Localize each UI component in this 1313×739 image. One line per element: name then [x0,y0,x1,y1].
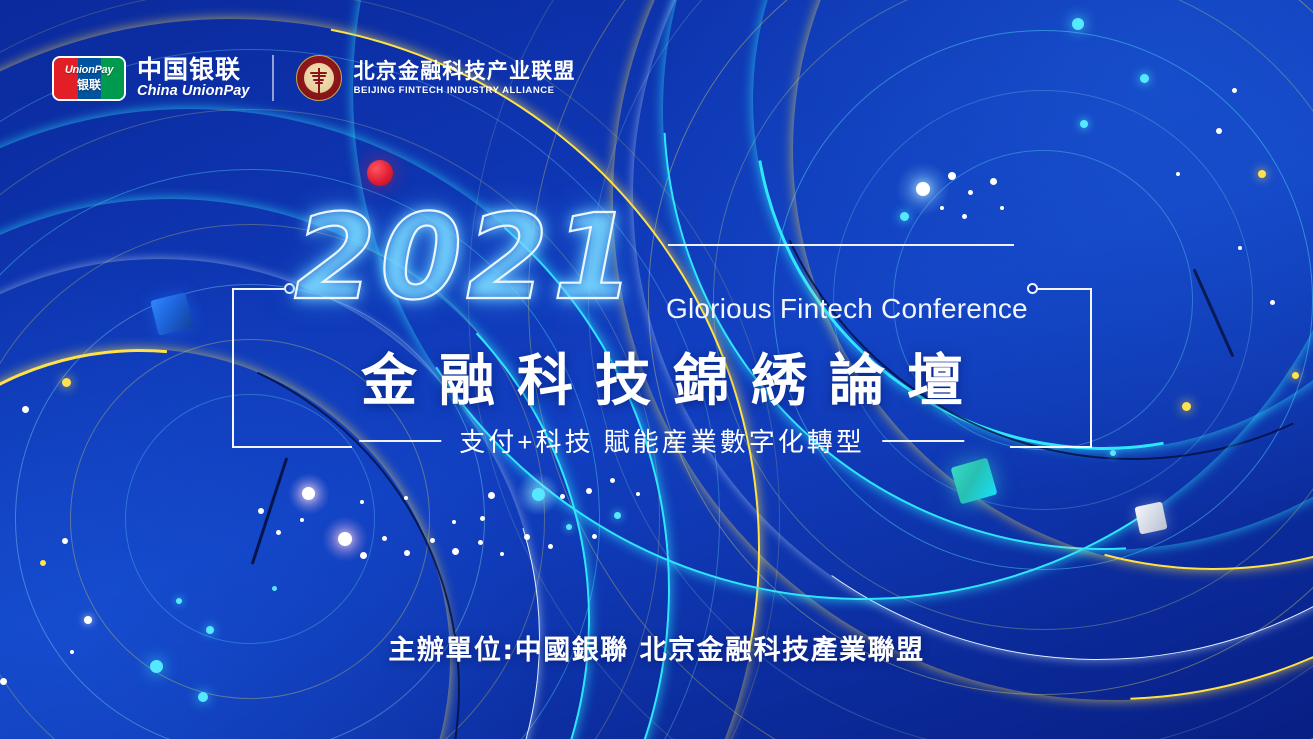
alliance-seal-icon [296,55,342,101]
organizers-line: 主辦單位:中國銀聯 北京金融科技產業聯盟 [388,628,924,667]
logo-divider [272,55,274,101]
unionpay-name-en: China UnionPay [137,84,250,99]
year-2021: 2021 [294,198,638,316]
unionpay-name-cn: 中国银联 [137,57,250,83]
alliance-logo: 北京金融科技产业联盟 BEIJING FINTECH INDUSTRY ALLI… [296,55,576,101]
conference-subtitle-cn: 支付+科技 賦能産業數字化轉型 [459,422,864,459]
slogan-english: Glorious Fintech Conference [666,293,1028,325]
unionpay-mark-icon: UnionPay 银联 [52,56,126,101]
conference-title-cn: 金融科技錦綉論壇 [339,336,985,417]
unionpay-mark-bottom-text: 银联 [77,79,101,91]
red-sphere-accent [367,160,393,186]
unionpay-mark-top-text: UnionPay [65,65,113,76]
unionpay-logo: UnionPay 银联 中国银联 China UnionPay [52,56,250,101]
year-connector-rule [668,244,1014,246]
alliance-name-en: BEIJING FINTECH INDUSTRY ALLIANCE [354,86,576,96]
subtitle-row: 支付+科技 賦能産業數字化轉型 [359,422,964,459]
subtitle-rule-left [359,440,441,442]
sponsor-logo-bar: UnionPay 银联 中国银联 China UnionPay 北京金融科技产业… [52,50,576,106]
conference-key-visual: UnionPay 银联 中国银联 China UnionPay 北京金融科技产业… [0,0,1313,739]
alliance-name-cn: 北京金融科技产业联盟 [354,60,576,83]
slash-dark-2 [1193,269,1234,358]
subtitle-rule-right [883,440,965,442]
title-lockup: 2021 Glorious Fintech Conference 金融科技錦綉論… [232,196,1092,454]
bracket-right-node [1027,283,1038,294]
cube-teal-right [950,457,997,504]
slash-dark-1 [251,457,288,564]
cube-blue-left [150,292,194,336]
cube-white-right [1134,501,1167,534]
